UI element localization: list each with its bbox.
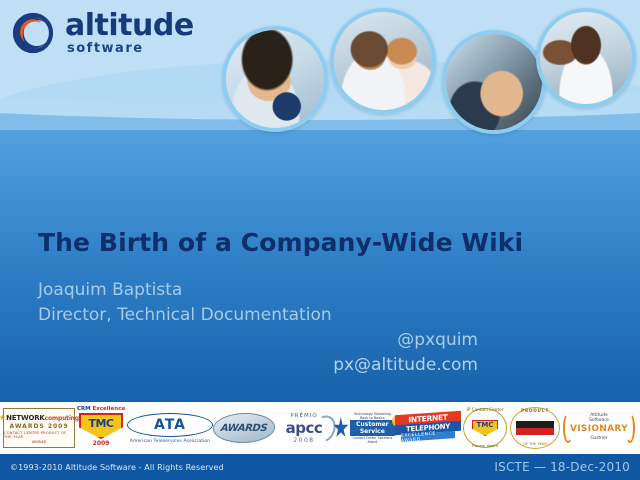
laurel-right-icon [625,413,635,443]
award-line2: AWARDS 2009 [9,423,68,430]
award-product-of-the-year: PRODUCT OF THE YEAR [509,406,561,450]
award-line1: NETWORK [6,414,45,422]
altitude-logo: altitude software [10,10,194,56]
logo-subword: software [67,42,194,55]
ata-mark: ATA [127,413,213,437]
award-ip-contact-center: IP Contact Center TMC Pioneer Award [461,406,509,450]
award-gartner-visionary: Altitude Software VISIONARY Gartner [561,406,637,450]
award-internet-telephony: INTERNET TELEPHONY EXCELLENCE AWARD [395,406,461,450]
it-line3: EXCELLENCE AWARD [401,431,455,442]
tmc-mark: TMC [88,417,113,430]
tmc-shield-icon: TMC [79,413,123,439]
slide-title: The Birth of a Company-Wide Wiki [38,228,523,257]
tmc-year: 2009 [93,440,110,447]
award-line4: WINNER [32,440,47,444]
award-ata: ATA American Teleservices Association [127,406,213,450]
ipcc-bottom: Pioneer Award [461,444,509,448]
slide-footer: ©1993-2010 Altitude Software - All Right… [0,454,640,480]
photo-man-on-phone [222,26,328,132]
award-network-computing-awards: ★NETWORKcomputing AWARDS 2009 CONTACT CE… [3,406,75,450]
ata-caption: American Teleservices Association [127,439,213,444]
copyright-text: ©1993-2010 Altitude Software - All Right… [10,463,224,472]
poty-bottom: OF THE YEAR [509,442,561,446]
award-awards-globe: AWARDS [213,406,275,450]
poty-top: PRODUCT [509,409,561,414]
speaker-email: px@altitude.com [333,355,478,375]
presentation-slide: altitude software The Birth of a Company… [0,0,640,480]
award-customer-service: Technology Marketing Back to Basics Cust… [333,406,395,450]
laurel-left-icon [563,413,573,443]
altitude-swirl-logo-icon [10,10,56,56]
logo-word: altitude [65,11,194,41]
speaker-role: Director, Technical Documentation [38,305,332,325]
award-premio-apcc: PRÉMIO apcc 2008 [275,406,333,450]
awards-strip: ★NETWORKcomputing AWARDS 2009 CONTACT CE… [0,402,640,454]
cs-top: Technology Marketing Back to Basics [350,412,395,420]
event-info: ISCTE — 18-Dec-2010 [494,460,630,474]
award-tmc-excellence: CRM Excellence TMC 2009 [75,406,127,450]
photo-handshake [442,30,546,134]
tmc-top: CRM [77,406,91,412]
award-line3: CONTACT CENTRE PRODUCT OF THE YEAR [4,431,74,439]
award-line1-accent: computing [45,415,79,422]
logo-wordmark: altitude software [65,11,194,55]
photo-woman-headset [536,8,636,108]
cs-bottom: Contact Center Solutions Award [350,436,395,444]
speaker-name: Joaquim Baptista [38,280,182,300]
cs-mark: Customer Service [350,420,395,436]
photo-two-agents [330,8,436,114]
awards-globe-mark: AWARDS [220,423,268,434]
tmc-top-accent: Excellence [92,406,125,412]
speaker-twitter-handle: @pxquim [397,330,478,350]
star-icon [333,417,349,439]
ipcc-top: IP Contact Center [461,407,509,412]
ipcc-mark: TMC [477,421,494,429]
